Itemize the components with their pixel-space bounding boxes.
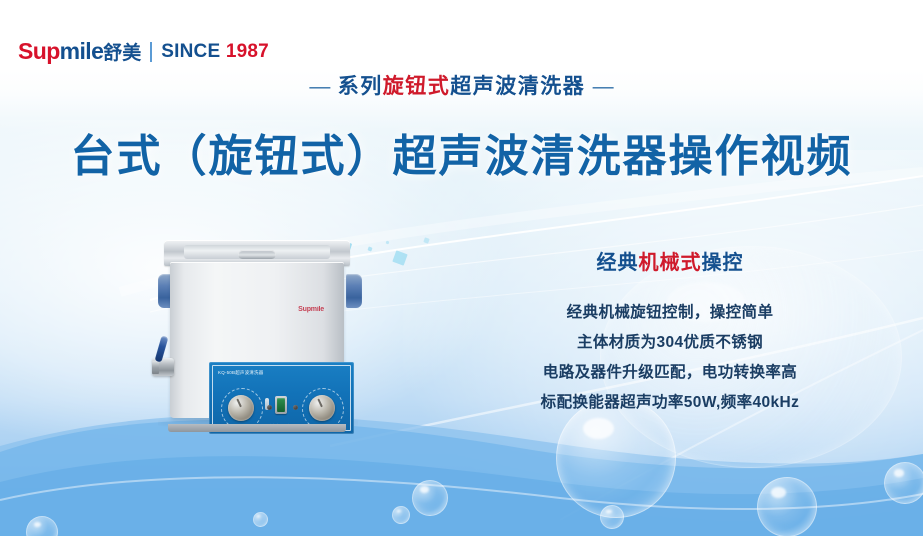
- logo-since-word: SINCE: [161, 41, 220, 62]
- decorative-bubble: [757, 477, 817, 536]
- logo-divider: [150, 42, 152, 62]
- logo-since-year: 1987: [226, 41, 269, 62]
- heater-knob[interactable]: [309, 395, 335, 421]
- product-body: Supmile KQ-50B超声波清洗器 昆山市超声仪: [170, 262, 344, 418]
- feature-heading-classic: 经典: [597, 252, 639, 274]
- panel-model-label: KQ-50B超声波清洗器: [218, 370, 263, 376]
- product-base: [168, 424, 346, 432]
- feature-item: 主体材质为304优质不锈钢: [470, 328, 870, 358]
- subtitle-dash-left: —: [309, 75, 330, 98]
- drain-valve-nut: [152, 361, 159, 374]
- logo-chinese-text: 舒美: [103, 43, 141, 64]
- indicator-led-right: [293, 405, 298, 410]
- feature-heading-mechanical: 机械式: [639, 252, 702, 274]
- slide-canvas: Supmile舒美 SINCE 1987 — 系列旋钮式超声波清洗器 — 台式（…: [0, 0, 923, 536]
- power-rocker-face: [277, 398, 285, 412]
- product-brand-mark: Supmile: [298, 306, 324, 313]
- timer-knob-group[interactable]: [221, 388, 261, 428]
- page-title: 台式（旋钮式）超声波清洗器操作视频: [0, 133, 923, 181]
- logo-since-block: SINCE 1987: [161, 42, 269, 61]
- logo-mile-text: mile: [60, 38, 104, 64]
- subtitle-series: 系列: [338, 75, 383, 98]
- feature-item: 电路及器件升级匹配，电功转换率高: [470, 358, 870, 388]
- decorative-bubble: [600, 505, 624, 529]
- feature-list: 经典机械旋钮控制，操控简单 主体材质为304优质不锈钢 电路及器件升级匹配，电功…: [470, 298, 870, 418]
- feature-item: 经典机械旋钮控制，操控简单: [470, 298, 870, 328]
- brand-logo: Supmile舒美 SINCE 1987: [18, 40, 269, 63]
- indicator-led-left: [267, 405, 272, 410]
- subtitle-dash-right: —: [593, 75, 614, 98]
- feature-heading-control: 操控: [702, 252, 744, 274]
- decorative-bubble: [412, 480, 448, 516]
- decorative-bubble: [253, 512, 268, 527]
- subtitle-knob-type: 旋钮式: [383, 75, 451, 98]
- feature-item: 标配换能器超声功率50W,频率40kHz: [470, 388, 870, 418]
- logo-sup-text: Sup: [18, 38, 60, 64]
- decorative-bubble: [392, 506, 410, 524]
- subtitle-cleaner: 超声波清洗器: [450, 75, 585, 98]
- timer-knob[interactable]: [228, 395, 254, 421]
- series-subtitle: — 系列旋钮式超声波清洗器 —: [0, 76, 923, 97]
- product-image-ultrasonic-cleaner: Supmile KQ-50B超声波清洗器 昆山市超声仪: [152, 238, 368, 428]
- logo-wordmark: Supmile舒美: [18, 40, 141, 63]
- product-lid-handle: [238, 250, 276, 259]
- heater-knob-group[interactable]: [302, 388, 342, 428]
- product-side-handle-right: [346, 274, 362, 308]
- decorative-bubble: [884, 462, 923, 504]
- feature-heading: 经典机械式操控: [470, 253, 870, 273]
- power-rocker-switch[interactable]: [275, 396, 287, 414]
